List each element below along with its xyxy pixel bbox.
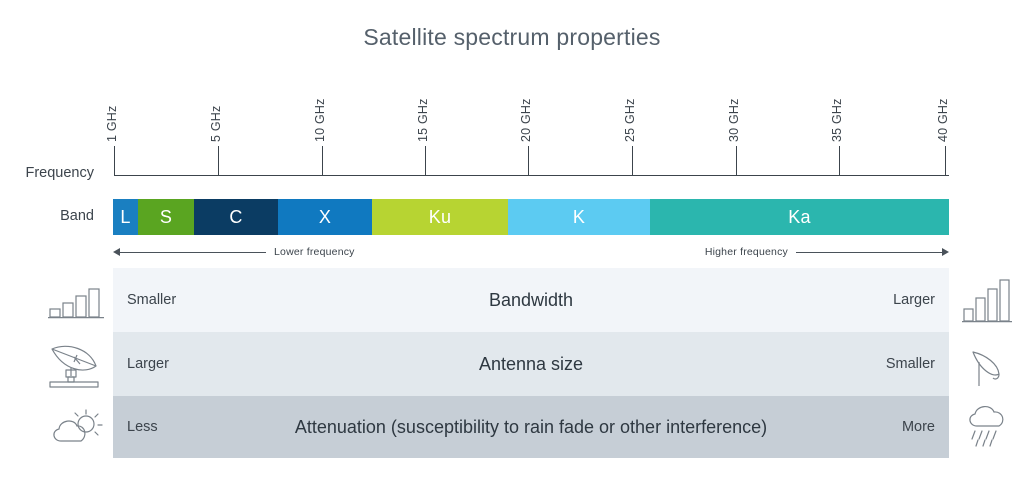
axis-tick	[632, 146, 633, 176]
higher-frequency-arrow: Higher frequency	[705, 240, 949, 264]
property-left-value: Larger	[113, 356, 169, 372]
frequency-axis: 1 GHz5 GHz10 GHz15 GHz20 GHz25 GHz30 GHz…	[0, 78, 1024, 188]
axis-tick-label: 35 GHz	[830, 98, 844, 142]
axis-tick-label: 20 GHz	[519, 98, 533, 142]
lower-frequency-arrow: Lower frequency	[113, 240, 355, 264]
band-segment-x[interactable]: X	[278, 199, 372, 235]
property-row: SmallerBandwidthLarger	[113, 268, 949, 332]
axis-tick-label: 1 GHz	[105, 106, 119, 142]
infographic-canvas: Satellite spectrum properties Frequency …	[0, 0, 1024, 493]
band-segment-l[interactable]: L	[113, 199, 138, 235]
band-segment-k[interactable]: K	[508, 199, 650, 235]
band-segment-ku[interactable]: Ku	[372, 199, 508, 235]
sun-cloud-icon	[48, 408, 106, 450]
satellite-dish-large-icon	[44, 340, 106, 390]
axis-tick	[839, 146, 840, 176]
band-segment-ka[interactable]: Ka	[650, 199, 949, 235]
axis-tick	[528, 146, 529, 176]
arrow-shaft	[796, 252, 942, 253]
arrow-left-head-icon	[113, 248, 120, 256]
axis-baseline	[114, 175, 949, 176]
property-row: LessAttenuation (susceptibility to rain …	[113, 396, 949, 458]
axis-tick-label: 40 GHz	[936, 98, 950, 142]
bar-chart-large-icon	[962, 278, 1012, 324]
lower-frequency-text: Lower frequency	[274, 246, 355, 258]
property-left-value: Smaller	[113, 292, 176, 308]
axis-tick	[425, 146, 426, 176]
frequency-direction-arrows: Lower frequency Higher frequency	[0, 240, 1024, 264]
property-right-value: More	[902, 419, 949, 435]
bar-chart-small-icon	[48, 286, 104, 320]
higher-frequency-text: Higher frequency	[705, 246, 788, 258]
arrow-shaft	[120, 252, 266, 253]
band-spectrum-bar: LSCXKuKKa	[0, 199, 1024, 235]
axis-tick-label: 5 GHz	[209, 106, 223, 142]
property-right-value: Smaller	[886, 356, 949, 372]
satellite-dish-small-icon	[968, 348, 1008, 390]
axis-tick	[114, 146, 115, 176]
axis-tick	[736, 146, 737, 176]
axis-tick-label: 10 GHz	[313, 98, 327, 142]
rain-cloud-icon	[964, 402, 1012, 448]
axis-tick	[945, 146, 946, 176]
axis-tick-label: 25 GHz	[623, 98, 637, 142]
axis-tick-label: 30 GHz	[727, 98, 741, 142]
property-title: Attenuation (susceptibility to rain fade…	[113, 417, 949, 438]
axis-tick	[322, 146, 323, 176]
band-segment-s[interactable]: S	[138, 199, 194, 235]
property-right-value: Larger	[893, 292, 949, 308]
axis-tick-label: 15 GHz	[416, 98, 430, 142]
band-segment-c[interactable]: C	[194, 199, 278, 235]
property-left-value: Less	[113, 419, 158, 435]
property-title: Antenna size	[113, 354, 949, 375]
property-title: Bandwidth	[113, 290, 949, 311]
arrow-right-head-icon	[942, 248, 949, 256]
property-row: LargerAntenna sizeSmaller	[113, 332, 949, 396]
page-title: Satellite spectrum properties	[0, 24, 1024, 51]
axis-tick	[218, 146, 219, 176]
